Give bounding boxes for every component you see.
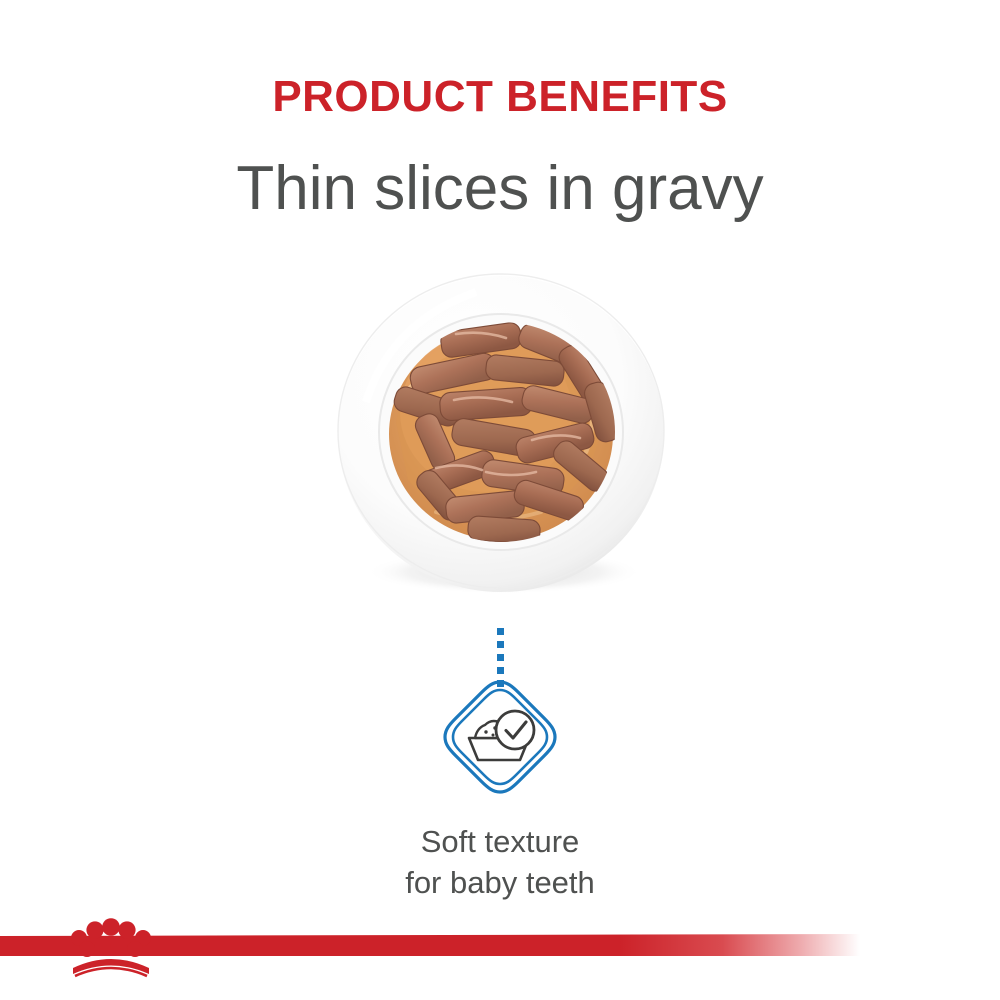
food-bowl-check-icon bbox=[441, 678, 559, 796]
connector-dot bbox=[497, 628, 504, 635]
connector-dot bbox=[497, 654, 504, 661]
benefit-caption-line1: Soft texture bbox=[0, 822, 1000, 863]
connector-dot bbox=[497, 641, 504, 648]
connector-dot bbox=[497, 667, 504, 674]
section-eyebrow: PRODUCT BENEFITS bbox=[0, 74, 1000, 120]
benefit-badge-svg bbox=[441, 678, 559, 796]
benefit-caption: Soft texture for baby teeth bbox=[0, 822, 1000, 904]
royal-canin-crown-logo bbox=[57, 916, 165, 980]
benefit-caption-line2: for baby teeth bbox=[0, 863, 1000, 904]
check-circle bbox=[496, 711, 534, 749]
dotted-connector bbox=[492, 628, 508, 676]
product-benefits-page: PRODUCT BENEFITS Thin slices in gravy bbox=[0, 0, 1000, 1000]
product-photo bbox=[336, 272, 666, 598]
page-title: Thin slices in gravy bbox=[0, 155, 1000, 223]
plate-of-food-illustration bbox=[336, 272, 666, 598]
crown-pearls bbox=[71, 918, 151, 957]
crown-logo-svg bbox=[57, 916, 165, 980]
